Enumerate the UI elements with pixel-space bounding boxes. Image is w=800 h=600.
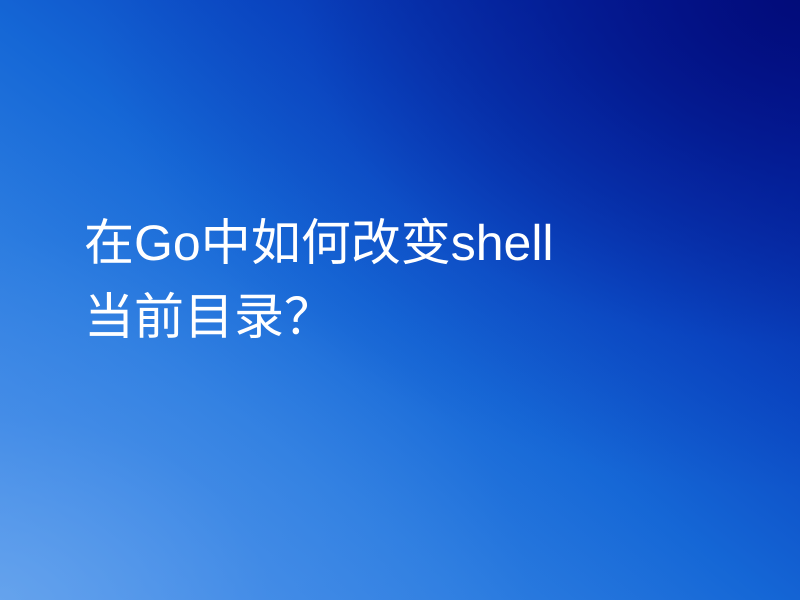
- title-block: 在Go中如何改变shell 当前目录？: [84, 206, 724, 354]
- slide-canvas: 在Go中如何改变shell 当前目录？: [0, 0, 800, 600]
- page-title: 在Go中如何改变shell 当前目录？: [84, 206, 724, 354]
